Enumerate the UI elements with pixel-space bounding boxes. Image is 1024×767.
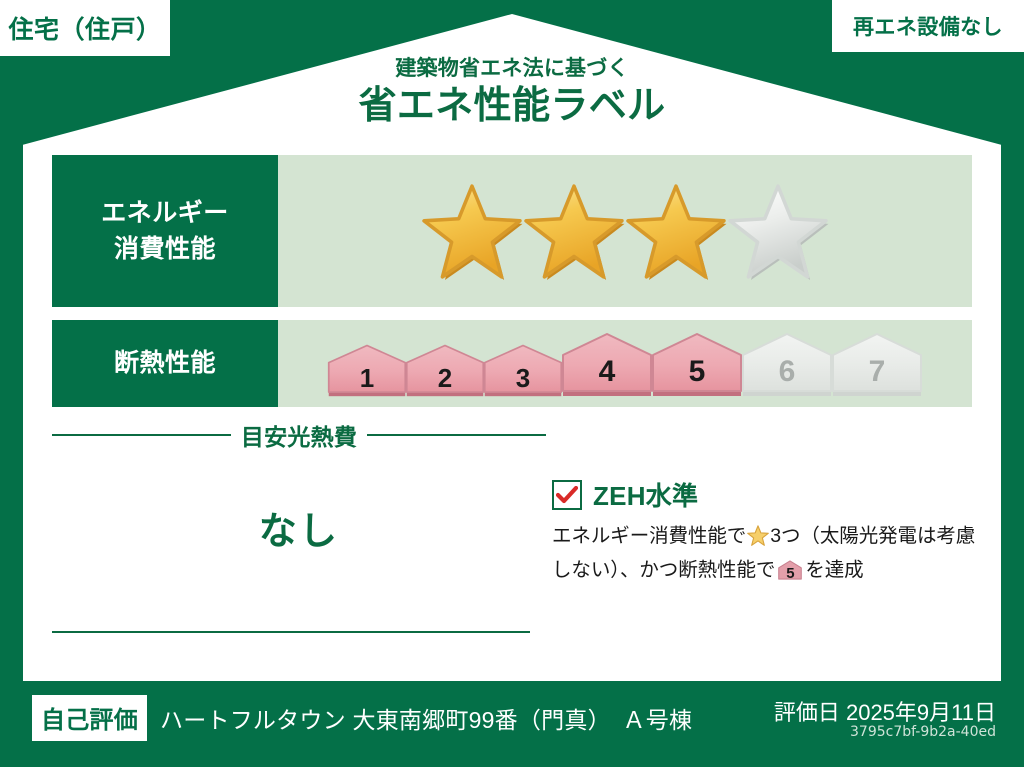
insulation-level-value: 5	[651, 355, 743, 389]
insulation-level-4: 4	[561, 331, 653, 397]
insulation-performance-label: 断熱性能	[52, 320, 278, 407]
insulation-performance-body: 1234567	[278, 320, 972, 407]
renewable-equipment-label: 再エネ設備なし	[853, 11, 1003, 41]
star-icon-filled	[625, 182, 727, 280]
insulation-level-2: 2	[405, 343, 485, 397]
utility-cost-title: 目安光熱費	[241, 418, 357, 452]
energy-performance-row: エネルギー 消費性能	[52, 155, 972, 307]
insulation-level-3: 3	[483, 343, 563, 397]
house-level-icon: 5	[777, 559, 803, 591]
star-icon	[747, 525, 769, 556]
rule-right	[367, 434, 546, 436]
evaluation-id: 3795c7bf-9b2a-40ed	[850, 724, 996, 740]
house-level-value: 5	[777, 563, 803, 586]
self-evaluation-badge: 自己評価	[32, 695, 147, 741]
energy-performance-body	[278, 155, 972, 307]
zeh-standard-section: ZEH水準 エネルギー消費性能で 3つ（太陽光発電は考慮しない）、かつ断熱性能で…	[552, 476, 977, 590]
evaluation-date: 評価日 2025年9月11日	[774, 695, 996, 727]
insulation-level-value: 7	[831, 355, 923, 389]
insulation-level-value: 1	[327, 363, 407, 394]
page-title: 省エネ性能ラベル	[0, 83, 1024, 131]
insulation-level-7: 7	[831, 331, 923, 397]
star-rating	[421, 182, 829, 280]
insulation-level-1: 1	[327, 343, 407, 397]
zeh-desc-part3: を達成	[805, 559, 863, 581]
energy-label-line1: エネルギー	[101, 195, 229, 231]
insulation-label-text: 断熱性能	[114, 345, 216, 381]
property-name: ハートフルタウン 大東南郷町99番（門真） Ａ号棟	[160, 701, 692, 735]
utility-cost-value: なし	[52, 500, 546, 555]
utility-cost-bottom-rule	[52, 631, 530, 633]
star-icon-filled	[523, 182, 625, 280]
law-basis-text: 建築物省エネ法に基づく	[0, 57, 1024, 80]
utility-cost-header: 目安光熱費	[52, 418, 546, 452]
zeh-description: エネルギー消費性能で 3つ（太陽光発電は考慮しない）、かつ断熱性能で 5 を達成	[552, 522, 977, 590]
zeh-title: ZEH水準	[593, 476, 698, 513]
dwelling-type-tag: 住宅（住戸）	[0, 0, 170, 56]
insulation-level-5: 5	[651, 331, 743, 397]
insulation-level-scale: 1234567	[278, 320, 972, 407]
zeh-desc-part1: エネルギー消費性能で	[552, 525, 746, 547]
insulation-performance-row: 断熱性能 1234567	[52, 320, 972, 407]
insulation-level-value: 3	[483, 363, 563, 394]
energy-label-line2: 消費性能	[114, 231, 216, 267]
checkmark-icon	[556, 486, 578, 504]
energy-performance-label: エネルギー 消費性能	[52, 155, 278, 307]
zeh-checkbox[interactable]	[552, 480, 582, 510]
utility-cost-section: 目安光熱費 なし	[52, 418, 546, 555]
rule-left	[52, 434, 231, 436]
dwelling-type-label: 住宅（住戸）	[8, 10, 161, 46]
insulation-level-value: 6	[741, 355, 833, 389]
insulation-level-value: 4	[561, 355, 653, 389]
star-icon-empty	[727, 182, 829, 280]
footer: 自己評価 ハートフルタウン 大東南郷町99番（門真） Ａ号棟 評価日 2025年…	[0, 681, 1024, 767]
star-icon-filled	[421, 182, 523, 280]
label-title-block: 建築物省エネ法に基づく 省エネ性能ラベル	[0, 57, 1024, 131]
insulation-level-value: 2	[405, 363, 485, 394]
insulation-level-6: 6	[741, 331, 833, 397]
zeh-header: ZEH水準	[552, 476, 977, 513]
renewable-equipment-tag: 再エネ設備なし	[832, 0, 1024, 52]
